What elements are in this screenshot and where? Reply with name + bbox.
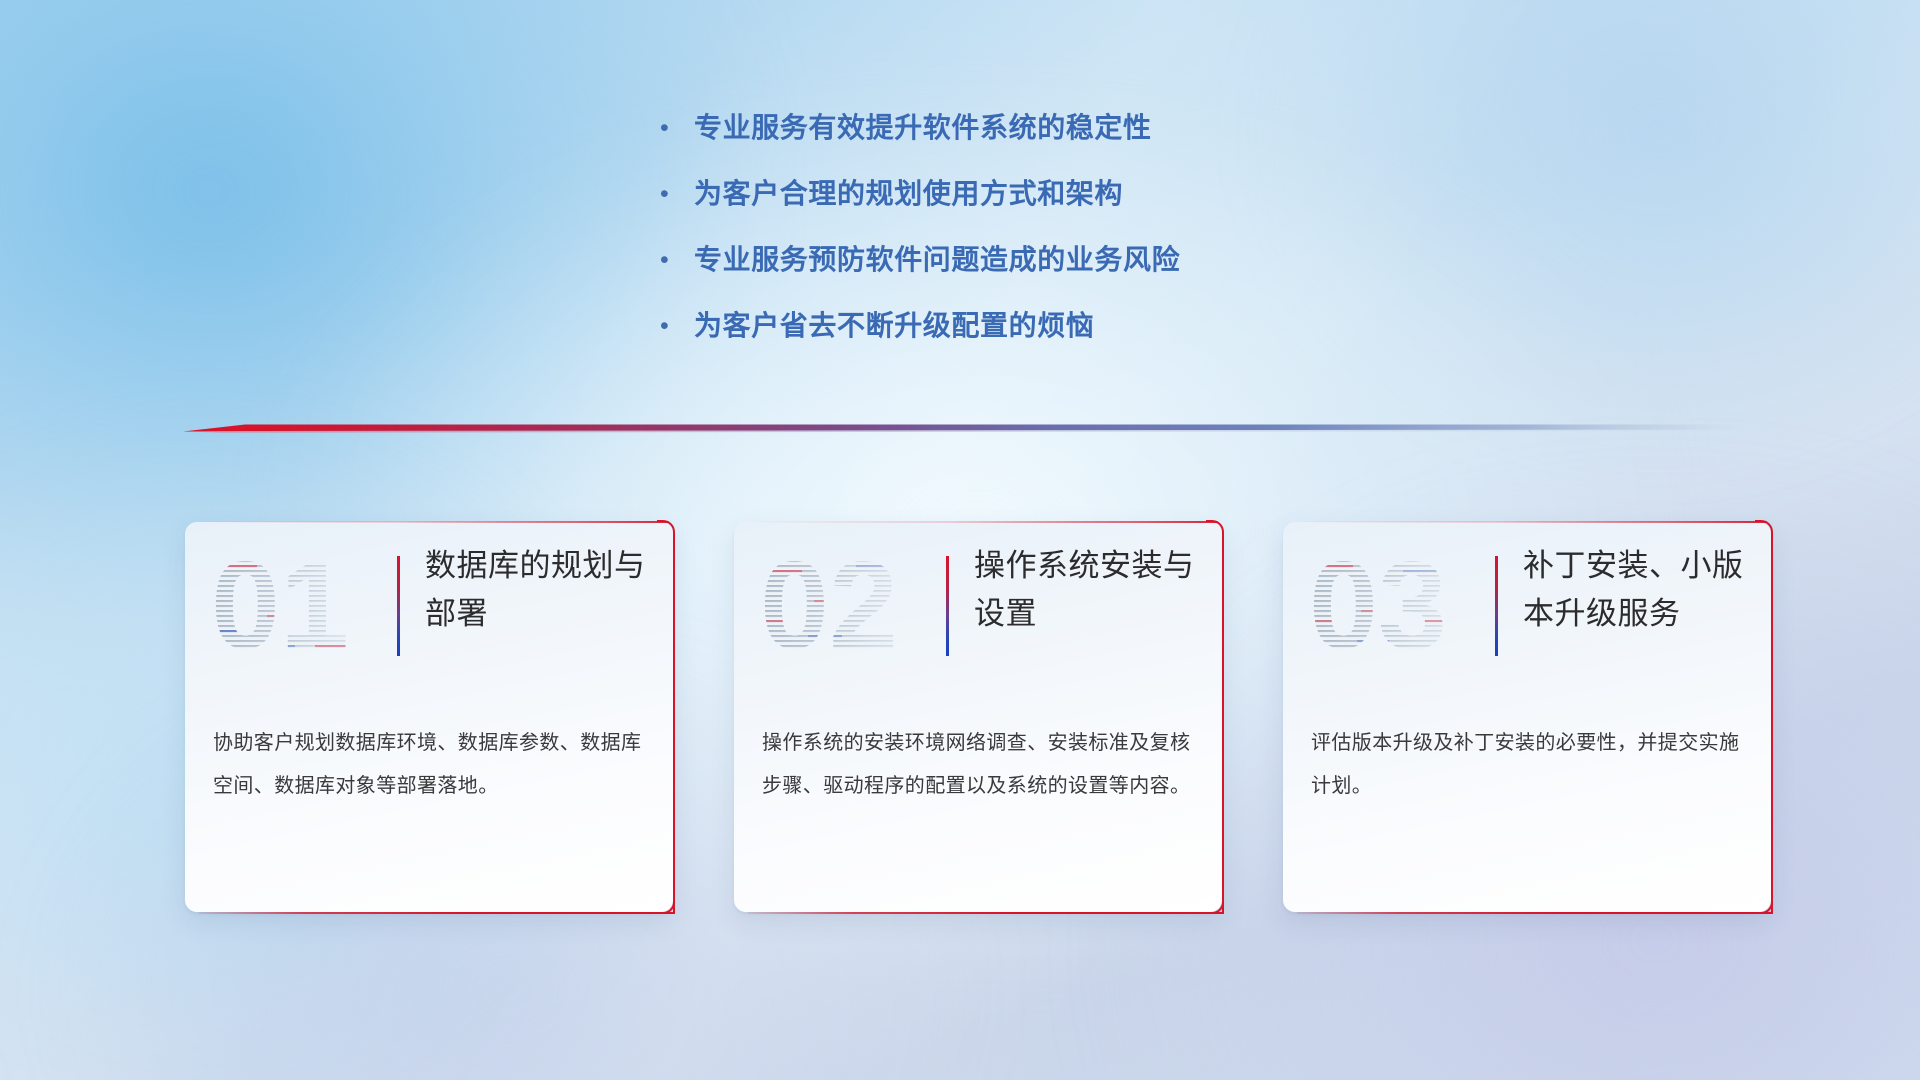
card-body-text: 协助客户规划数据库环境、数据库参数、数据库空间、数据库对象等部署落地。 bbox=[213, 722, 647, 808]
list-item: • 为客户合理的规划使用方式和架构 bbox=[660, 174, 1560, 214]
service-card[interactable]: 03 bbox=[1283, 522, 1771, 912]
bullet-dot-icon: • bbox=[660, 306, 694, 346]
bullet-text: 为客户合理的规划使用方式和架构 bbox=[694, 174, 1123, 214]
card-number-glyph-icon: 03 bbox=[1307, 544, 1467, 664]
card-accent-bottom bbox=[199, 912, 675, 915]
card-title: 补丁安装、小版本升级服务 bbox=[1523, 542, 1753, 638]
bullet-dot-icon: • bbox=[660, 108, 694, 148]
card-title: 数据库的规划与部署 bbox=[425, 542, 655, 638]
bullet-text: 专业服务预防软件问题造成的业务风险 bbox=[694, 240, 1180, 280]
card-title-rule bbox=[946, 556, 949, 656]
service-card[interactable]: 01 bbox=[185, 522, 673, 912]
bullet-dot-icon: • bbox=[660, 240, 694, 280]
service-card[interactable]: 02 bbox=[734, 522, 1222, 912]
section-divider bbox=[183, 418, 1743, 440]
bullet-text: 为客户省去不断升级配置的烦恼 bbox=[694, 306, 1094, 346]
card-body-text: 操作系统的安装环境网络调查、安装标准及复核步骤、驱动程序的配置以及系统的设置等内… bbox=[762, 722, 1196, 808]
bullet-dot-icon: • bbox=[660, 174, 694, 214]
benefits-bullet-list: • 专业服务有效提升软件系统的稳定性 • 为客户合理的规划使用方式和架构 • 专… bbox=[660, 108, 1560, 372]
list-item: • 为客户省去不断升级配置的烦恼 bbox=[660, 306, 1560, 346]
card-title-rule bbox=[397, 556, 400, 656]
card-number-glyph-icon: 01 bbox=[209, 544, 369, 664]
card-title-rule bbox=[1495, 556, 1498, 656]
card-accent-bottom bbox=[1297, 912, 1773, 915]
card-title: 操作系统安装与设置 bbox=[974, 542, 1204, 638]
card-body-text: 评估版本升级及补丁安装的必要性，并提交实施计划。 bbox=[1311, 722, 1745, 808]
gradient-rule-icon bbox=[183, 418, 1743, 440]
card-header: 02 bbox=[734, 522, 1222, 682]
bullet-text: 专业服务有效提升软件系统的稳定性 bbox=[694, 108, 1152, 148]
list-item: • 专业服务有效提升软件系统的稳定性 bbox=[660, 108, 1560, 148]
list-item: • 专业服务预防软件问题造成的业务风险 bbox=[660, 240, 1560, 280]
card-number-glyph-icon: 02 bbox=[758, 544, 918, 664]
card-header: 01 bbox=[185, 522, 673, 682]
card-accent-bottom bbox=[748, 912, 1224, 915]
card-header: 03 bbox=[1283, 522, 1771, 682]
